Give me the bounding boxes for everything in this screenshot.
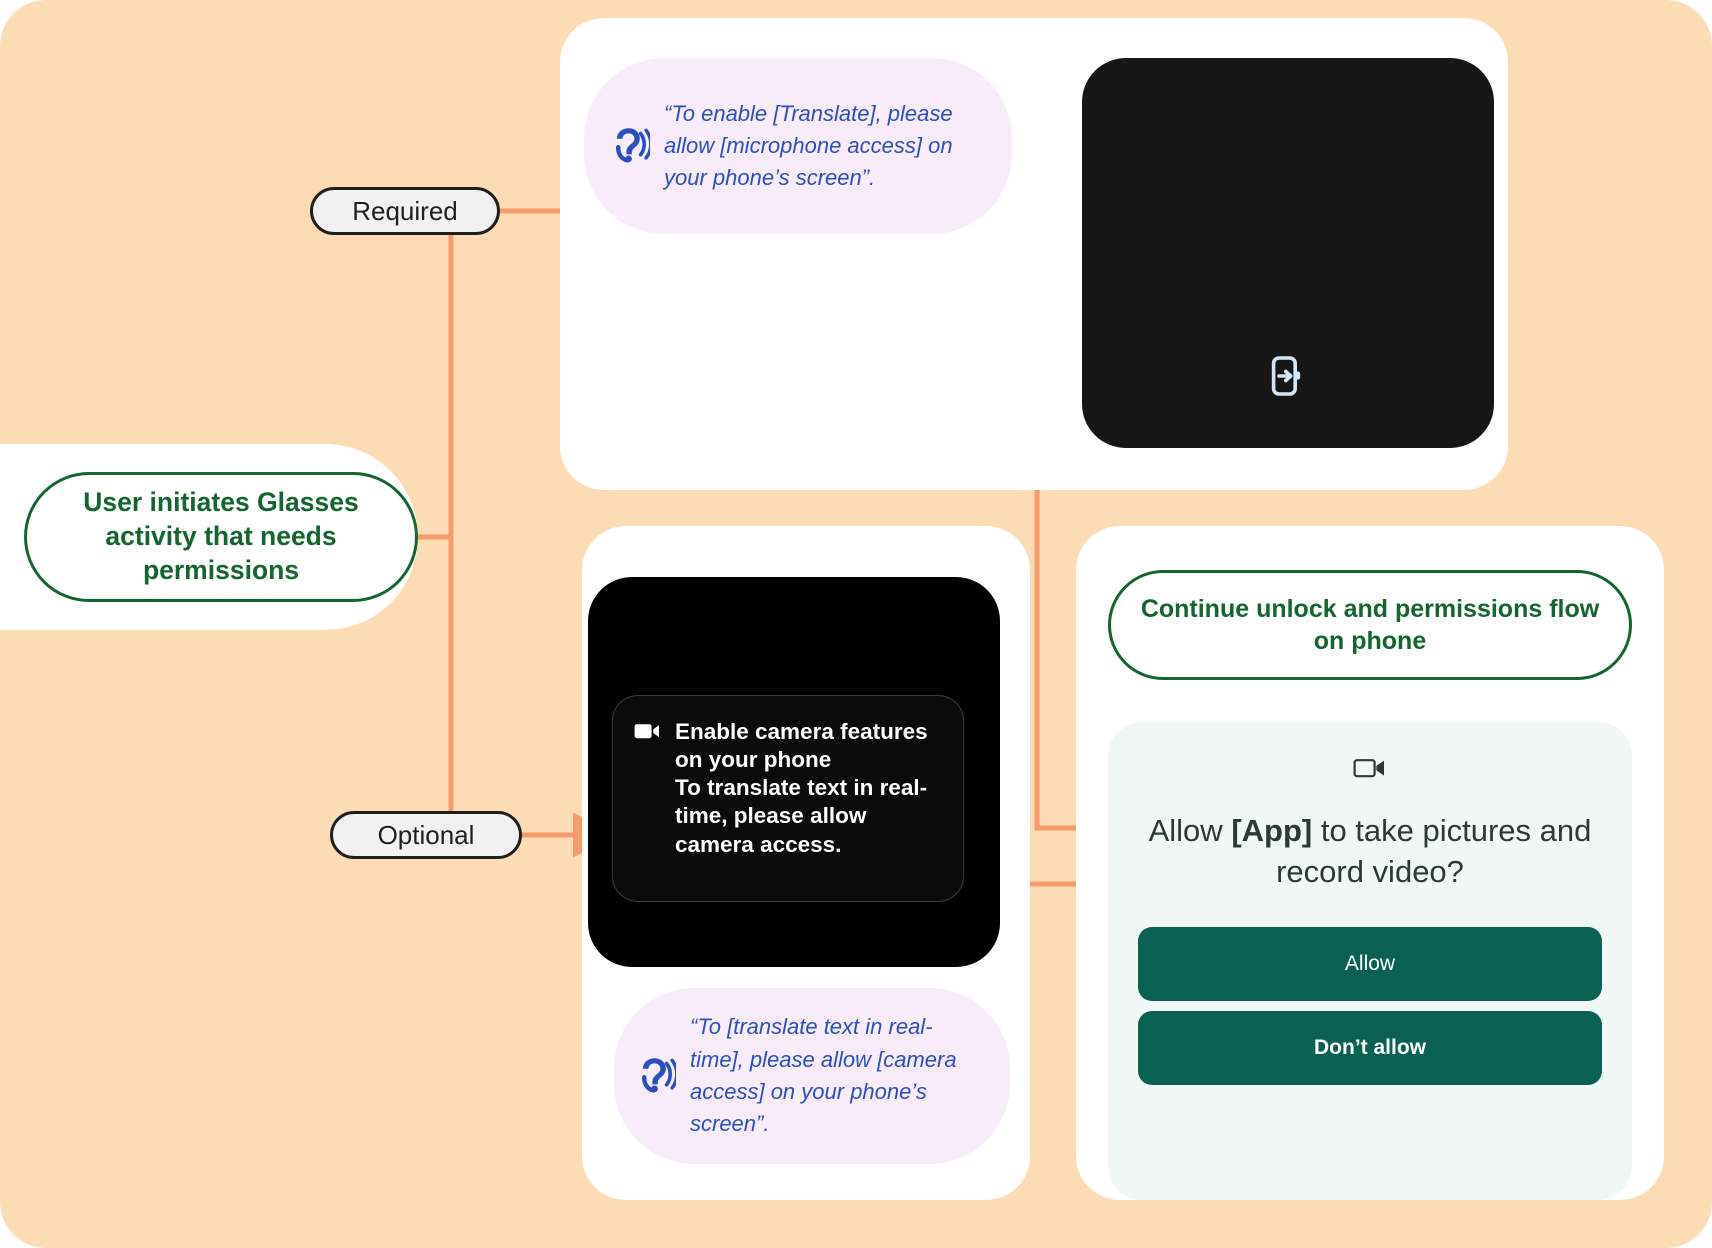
permission-question-suffix: to take pictures and record video? xyxy=(1276,813,1591,889)
allow-button[interactable]: Allow xyxy=(1138,927,1602,1001)
dont-allow-button[interactable]: Don’t allow xyxy=(1138,1011,1602,1085)
speech-bubble-microphone-text: “To enable [Translate], please allow [mi… xyxy=(664,98,984,195)
continue-flow-node[interactable]: Continue unlock and permissions flow on … xyxy=(1108,570,1632,680)
diagram-root: User initiates Glasses activity that nee… xyxy=(0,0,1712,1248)
branch-pill-optional-label: Optional xyxy=(378,820,475,851)
permission-question: Allow [App] to take pictures and record … xyxy=(1138,811,1602,893)
glasses-screen-unlock xyxy=(1082,58,1494,448)
branch-pill-required[interactable]: Required xyxy=(310,187,500,235)
camera-permission-notification-body: Enable camera features on your phone To … xyxy=(675,718,941,879)
phone-unlock-arrow-icon xyxy=(1270,355,1306,402)
permission-question-prefix: Allow xyxy=(1149,813,1232,848)
notification-title: Enable camera features on your phone xyxy=(675,718,941,774)
branch-pill-optional[interactable]: Optional xyxy=(330,811,522,859)
speech-bubble-camera-text: “To [translate text in real-time], pleas… xyxy=(690,1011,986,1140)
notification-body-text: To translate text in real-time, please a… xyxy=(675,774,941,858)
video-camera-icon xyxy=(1138,756,1602,785)
camera-permission-notification[interactable]: Enable camera features on your phone To … xyxy=(612,695,964,902)
video-camera-icon xyxy=(633,721,661,879)
branch-pill-required-label: Required xyxy=(352,196,458,227)
permission-question-app: [App] xyxy=(1231,813,1312,848)
android-permission-dialog: Allow [App] to take pictures and record … xyxy=(1108,722,1632,1200)
ear-hearing-icon xyxy=(636,1055,676,1097)
speech-bubble-camera: “To [translate text in real-time], pleas… xyxy=(614,988,1010,1164)
continue-flow-node-label: Continue unlock and permissions flow on … xyxy=(1133,593,1607,657)
ear-hearing-icon xyxy=(610,125,650,167)
speech-bubble-microphone: “To enable [Translate], please allow [mi… xyxy=(584,58,1012,234)
start-node-label: User initiates Glasses activity that nee… xyxy=(49,486,393,588)
start-node[interactable]: User initiates Glasses activity that nee… xyxy=(24,472,418,602)
